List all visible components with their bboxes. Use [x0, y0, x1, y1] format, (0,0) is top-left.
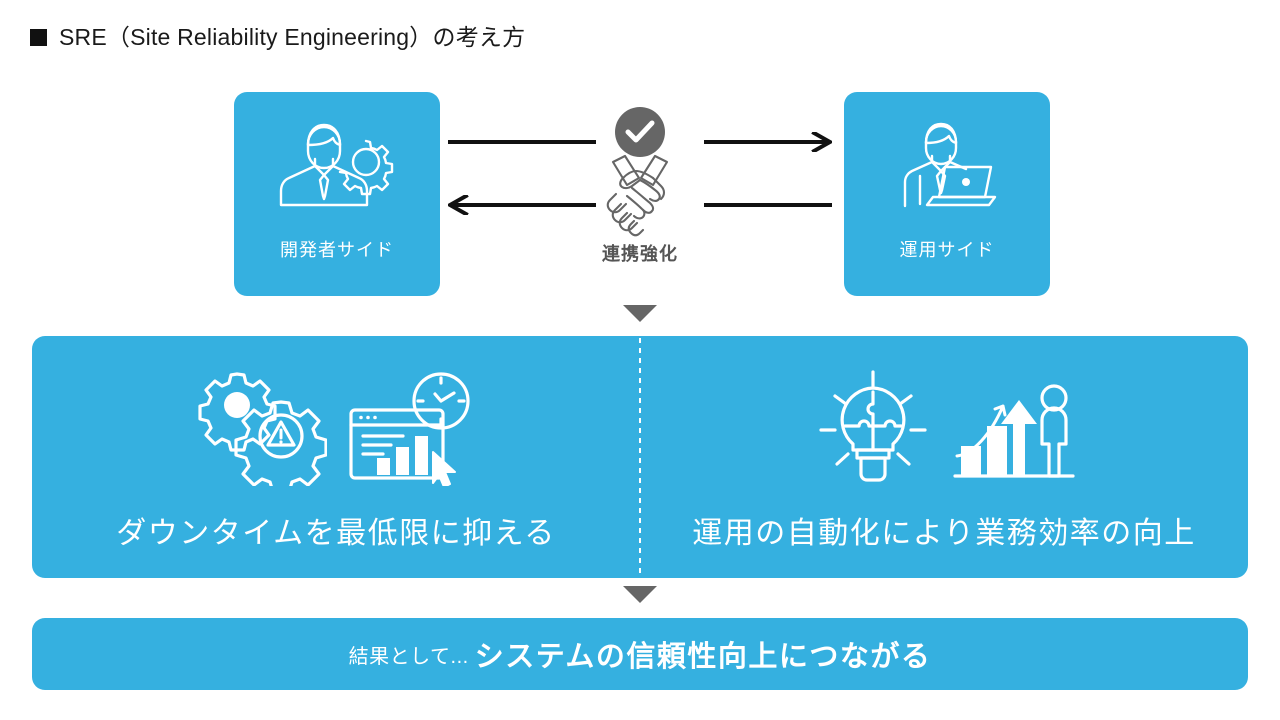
growth-chart-person-icon: [951, 368, 1079, 486]
person-with-gear-icon: [277, 118, 397, 222]
benefit-label-automation: 運用の自動化により業務効率の向上: [692, 508, 1195, 552]
page-title-text: SRE（Site Reliability Engineering）の考え方: [59, 26, 525, 49]
benefit-icons-automation: [809, 368, 1079, 486]
page-title: SRE（Site Reliability Engineering）の考え方: [30, 26, 525, 49]
result-prefix-text: 結果として...: [349, 640, 469, 669]
dotted-vertical-divider: [639, 338, 641, 576]
result-bar: 結果として... システムの信頼性向上につながる: [32, 618, 1248, 690]
handshake-icon: [587, 144, 693, 240]
result-main-text: システムの信頼性向上につながる: [475, 633, 932, 675]
benefit-label-downtime: ダウンタイムを最低限に抑える: [116, 508, 556, 552]
lightbulb-puzzle-icon: [809, 368, 937, 486]
down-triangle-icon-top: [623, 305, 657, 322]
collaboration-label: 連携強化: [560, 240, 720, 266]
collaboration-group: 連携強化: [560, 100, 720, 280]
gears-warning-icon: [195, 368, 327, 486]
card-developer-side: 開発者サイド: [234, 92, 440, 296]
card-operations-side: 運用サイド: [844, 92, 1050, 296]
down-triangle-icon-bottom: [623, 586, 657, 603]
benefit-band: ダウンタイムを最低限に抑える: [32, 336, 1248, 578]
benefit-column-downtime: ダウンタイムを最低限に抑える: [32, 336, 640, 578]
square-bullet-icon: [30, 29, 47, 46]
person-with-laptop-icon: [887, 118, 1007, 222]
card-operations-side-label: 運用サイド: [900, 236, 995, 262]
benefit-icons-downtime: [195, 368, 477, 486]
card-developer-side-label: 開発者サイド: [280, 236, 394, 262]
benefit-column-automation: 運用の自動化により業務効率の向上: [640, 336, 1248, 578]
dashboard-chart-clock-cursor-icon: [341, 368, 477, 486]
